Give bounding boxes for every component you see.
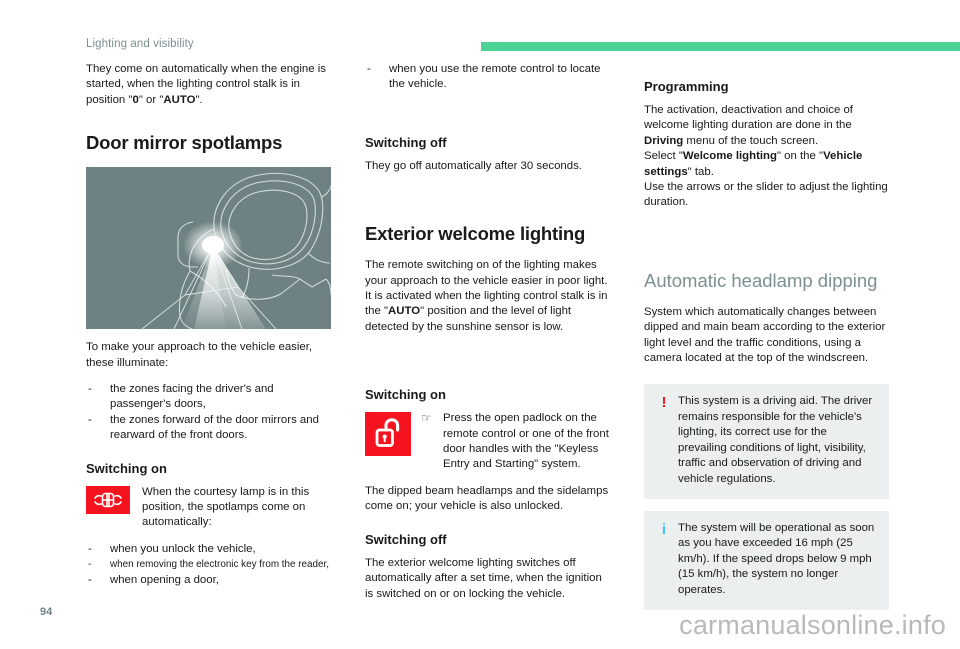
subheading-switching-off-spotlamps: Switching off [365, 134, 610, 151]
dash-marker: - [88, 542, 92, 557]
list-item: -when removing the electronic key from t… [86, 557, 331, 572]
list-item-label: when you unlock the vehicle, [110, 543, 256, 555]
subheading-switching-on-welcome: Switching on [365, 386, 610, 403]
column-left: They come on automatically when the engi… [86, 62, 331, 599]
spacer [644, 377, 889, 384]
section-title-automatic-headlamp-dipping: Automatic headlamp dipping [644, 270, 889, 292]
dash-marker: - [88, 573, 92, 588]
list-item-label: when opening a door, [110, 574, 219, 586]
dash-marker: - [88, 413, 92, 428]
prog-part1: The activation, deactivation and choice … [644, 104, 853, 131]
information-i-icon: i [656, 522, 672, 537]
programming-paragraph: The activation, deactivation and choice … [644, 103, 889, 211]
info-callout-text: The system will be operational as soon a… [678, 521, 877, 598]
spacer [365, 346, 610, 370]
column-middle: -when you use the remote control to loca… [365, 62, 610, 613]
dipped-beam-result-text: The dipped beam headlamps and the sidela… [365, 484, 610, 515]
subheading-switching-on-spotlamps: Switching on [86, 460, 331, 477]
warning-callout-text: This system is a driving aid. The driver… [678, 394, 877, 486]
list-item: -when you unlock the vehicle, [86, 542, 331, 557]
courtesy-lamp-icon [86, 486, 130, 514]
dash-marker: - [88, 557, 91, 572]
list-item-label: when you use the remote control to locat… [389, 63, 600, 90]
subheading-switching-off-welcome: Switching off [365, 531, 610, 548]
switching-off-spotlamps-text: They go off automatically after 30 secon… [365, 159, 610, 174]
prog-part3: Select " [644, 150, 683, 162]
intro-bold-auto: AUTO [163, 94, 195, 106]
section-title-door-mirror-spotlamps: Door mirror spotlamps [86, 132, 331, 154]
prog-part5: " tab. [688, 166, 714, 178]
chapter-breadcrumb: Lighting and visibility [86, 38, 194, 50]
spacer [365, 185, 610, 199]
switching-off-welcome-text: The exterior welcome lighting switches o… [365, 556, 610, 602]
spotlamp-trigger-list: -when you unlock the vehicle, -when remo… [86, 542, 331, 588]
auto-dipping-paragraph: System which automatically changes betwe… [644, 305, 889, 367]
list-item-label: when removing the electronic key from th… [110, 559, 329, 570]
open-padlock-icon [365, 412, 411, 456]
padlock-instruction-text: Press the open padlock on the remote con… [443, 411, 610, 473]
list-item: -the zones forward of the door mirrors a… [86, 413, 331, 444]
continued-trigger-list: -when you use the remote control to loca… [365, 62, 610, 93]
list-item: -when you use the remote control to loca… [365, 62, 610, 93]
header-accent-rule [481, 42, 960, 51]
padlock-procedure-row: ☞ Press the open padlock on the remote c… [421, 411, 610, 473]
spacer [644, 222, 889, 246]
prog-bold-welcome-lighting: Welcome lighting [683, 150, 777, 162]
warning-callout: ! This system is a driving aid. The driv… [644, 384, 889, 498]
door-mirror-spotlamp-beam-illustration [86, 167, 331, 329]
list-item: -when opening a door, [86, 573, 331, 588]
pointing-hand-icon: ☞ [421, 411, 443, 425]
column-right: Programming The activation, deactivation… [644, 62, 889, 622]
prog-bold-driving: Driving [644, 135, 683, 147]
intro-paragraph: They come on automatically when the engi… [86, 62, 331, 108]
list-item-label: the zones facing the driver's and passen… [110, 383, 274, 410]
intro-part3: ". [195, 94, 202, 106]
welcome-intro-bold-auto: AUTO [388, 305, 420, 317]
list-item: -the zones facing the driver's and passe… [86, 382, 331, 413]
dash-marker: - [367, 62, 371, 77]
approach-paragraph: To make your approach to the vehicle eas… [86, 340, 331, 371]
courtesy-lamp-instruction: When the courtesy lamp is in this positi… [142, 485, 331, 531]
warning-exclamation-icon: ! [656, 395, 672, 410]
intro-part1: They come on automatically when the engi… [86, 63, 326, 106]
padlock-icon-block: ☞ Press the open padlock on the remote c… [365, 411, 610, 473]
list-item-label: the zones forward of the door mirrors an… [110, 414, 319, 441]
illuminate-zones-list: -the zones facing the driver's and passe… [86, 382, 331, 444]
intro-part2: " or " [139, 94, 164, 106]
page-number: 94 [40, 606, 52, 618]
prog-part6: Use the arrows or the slider to adjust t… [644, 181, 888, 208]
site-watermark: carmanualsonline.info [679, 610, 946, 641]
section-title-exterior-welcome-lighting: Exterior welcome lighting [365, 223, 610, 245]
dash-marker: - [88, 382, 92, 397]
subheading-programming: Programming [644, 78, 889, 95]
prog-part2: menu of the touch screen. [683, 135, 818, 147]
prog-part4: " on the " [777, 150, 823, 162]
spacer [365, 104, 610, 118]
courtesy-lamp-icon-block: When the courtesy lamp is in this positi… [86, 485, 331, 531]
welcome-lighting-intro: The remote switching on of the lighting … [365, 258, 610, 335]
page-columns: They come on automatically when the engi… [86, 62, 916, 592]
info-callout: i The system will be operational as soon… [644, 511, 889, 610]
page-header: Lighting and visibility [0, 0, 960, 58]
